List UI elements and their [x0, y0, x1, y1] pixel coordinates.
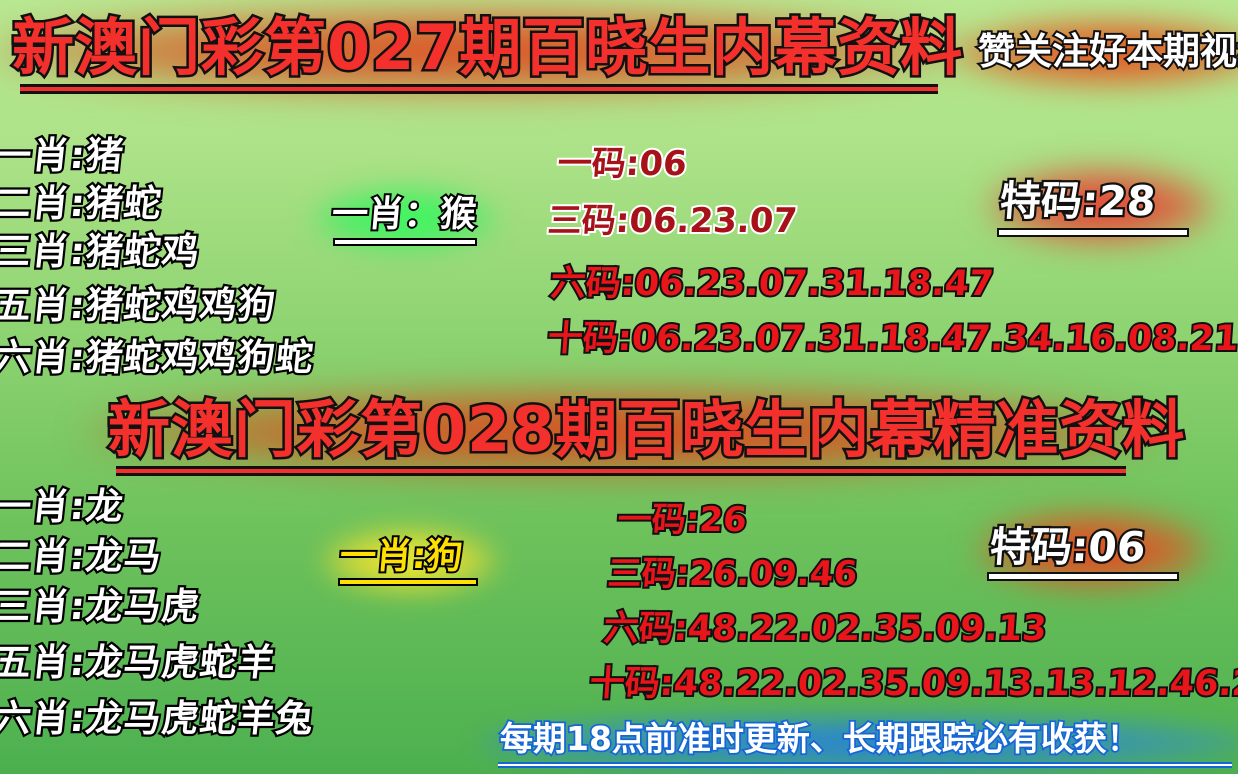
zodiac-line: 六肖:猪蛇鸡鸡狗蛇: [0, 334, 316, 382]
code-label: 一码:: [616, 500, 700, 540]
special-label: 特码:: [988, 523, 1090, 571]
section1-title-underline: [20, 84, 938, 94]
code-label: 一码:: [556, 144, 640, 184]
zodiac-line: 五肖:猪蛇鸡鸡狗: [0, 282, 316, 330]
section2-code-row-2: 三码:26.09.46: [606, 546, 859, 595]
code-value: 06.23.07.31.18.47.34.16.08.21: [630, 319, 1238, 359]
zodiac-line: 五肖:龙马虎蛇羊: [0, 638, 316, 688]
code-value: 06: [638, 144, 688, 184]
zodiac-line: 一肖:龙: [0, 482, 316, 532]
section1-special-underline: [997, 228, 1189, 237]
code-label: 六码:: [602, 609, 689, 649]
footer-banner-text: 每期18点前准时更新、长期跟踪必有收获！: [500, 718, 1140, 760]
code-value: 48.22.02.35.09.13: [686, 609, 1048, 649]
section1-title: 新澳门彩第027期百晓生内幕资料: [12, 14, 963, 82]
zodiac-line: 二肖:龙马: [0, 532, 316, 582]
code-label: 六码:: [549, 264, 636, 304]
section1-code-row-1: 一码:06: [556, 136, 688, 185]
special-label: 特码:: [998, 177, 1100, 225]
section2-title: 新澳门彩第028期百晓生内幕精准资料: [108, 396, 1185, 464]
section2-pick-label: 一肖:狗: [338, 534, 464, 580]
section2-special-underline: [987, 572, 1179, 581]
section1-code-row-3: 六码:06.23.07.31.18.47: [549, 255, 995, 306]
code-label: 三码:: [606, 554, 690, 594]
special-value: 28: [1097, 177, 1157, 225]
section2-pick-underline: [338, 578, 478, 586]
code-value: 06.23.07: [628, 201, 799, 241]
section1-zodiac-list: 一肖:猪 二肖:猪蛇 三肖:猪蛇鸡 五肖:猪蛇鸡鸡狗 六肖:猪蛇鸡鸡狗蛇: [0, 132, 314, 382]
special-value: 06: [1087, 523, 1147, 571]
code-label: 三码:: [546, 201, 630, 241]
zodiac-line: 三肖:龙马虎: [0, 582, 316, 632]
code-value: 48.22.02.35.09.13.13.12.46.26.03: [672, 664, 1238, 704]
section2-special-code: 特码:06: [988, 522, 1147, 572]
zodiac-line: 三肖:猪蛇鸡: [0, 228, 316, 276]
code-label: 十码:: [588, 664, 675, 704]
section1-pick-underline: [333, 238, 477, 246]
lottery-info-page: { "background": { "gradient_top": "#b9e8…: [0, 0, 1238, 774]
section2-title-underline: [116, 466, 1126, 476]
section2-code-row-1: 一码:26: [616, 492, 748, 541]
section2-code-row-3: 六码:48.22.02.35.09.13: [602, 600, 1048, 651]
section1-special-code: 特码:28: [998, 176, 1157, 226]
promo-banner-text: 赞关注好本期视频: [978, 30, 1238, 74]
zodiac-line: 二肖:猪蛇: [0, 180, 316, 228]
code-label: 十码:: [546, 319, 633, 359]
zodiac-line: 一肖:猪: [0, 132, 316, 180]
section2-zodiac-list: 一肖:龙 二肖:龙马 三肖:龙马虎 五肖:龙马虎蛇羊 六肖:龙马虎蛇羊兔: [0, 482, 314, 744]
section1-pick-label: 一肖：猴: [330, 192, 478, 238]
section1-code-row-2: 三码:06.23.07: [546, 193, 799, 242]
section2-code-row-4: 十码:48.22.02.35.09.13.13.12.46.26.03: [588, 655, 1238, 706]
footer-underline: [498, 762, 1232, 768]
zodiac-line: 六肖:龙马虎蛇羊兔: [0, 694, 316, 744]
section1-code-row-4: 十码:06.23.07.31.18.47.34.16.08.21: [546, 310, 1238, 361]
code-value: 26.09.46: [688, 554, 859, 594]
code-value: 06.23.07.31.18.47: [633, 264, 995, 304]
code-value: 26: [698, 500, 748, 540]
